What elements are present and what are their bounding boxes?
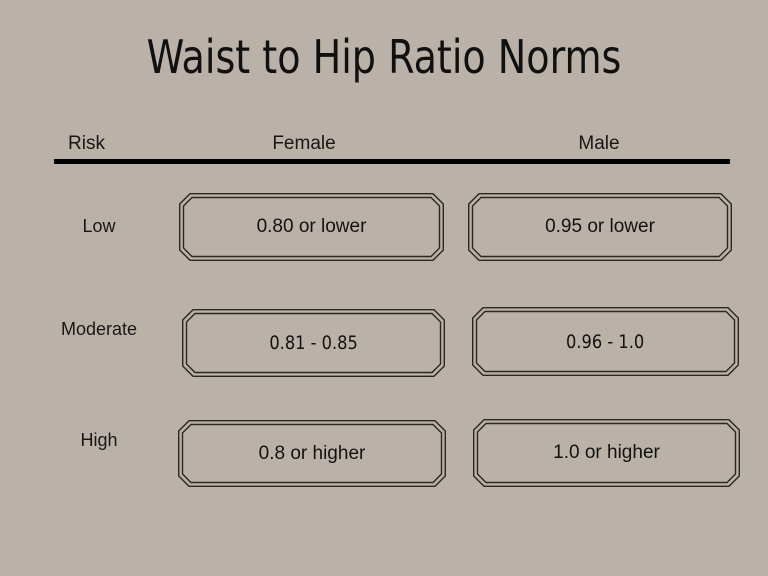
value-text-male-low: 0.95 or lower: [545, 215, 655, 239]
value-box-male-high: 1.0 or higher: [473, 419, 740, 487]
slide-canvas: Waist to Hip Ratio Norms Risk Female Mal…: [0, 0, 768, 576]
value-text-female-moderate: 0.81 - 0.85: [269, 331, 357, 355]
page-title: Waist to Hip Ratio Norms: [31, 28, 738, 86]
row-label-high: High: [19, 429, 179, 451]
value-box-female-low: 0.80 or lower: [179, 193, 444, 261]
header-divider: [54, 159, 730, 164]
row-label-moderate: Moderate: [19, 318, 179, 340]
value-text-female-low: 0.80 or lower: [257, 215, 367, 239]
value-text-female-high: 0.8 or higher: [259, 442, 366, 466]
value-box-male-moderate: 0.96 - 1.0: [472, 307, 739, 376]
column-header-female: Female: [204, 132, 404, 156]
value-text-male-high: 1.0 or higher: [553, 441, 660, 465]
column-header-male: Male: [499, 132, 699, 156]
row-label-low: Low: [19, 215, 179, 237]
value-text-male-moderate: 0.96 - 1.0: [566, 330, 644, 354]
value-box-female-high: 0.8 or higher: [178, 420, 446, 487]
column-header-risk: Risk: [68, 132, 105, 156]
value-box-female-moderate: 0.81 - 0.85: [182, 309, 445, 377]
value-box-male-low: 0.95 or lower: [468, 193, 732, 261]
